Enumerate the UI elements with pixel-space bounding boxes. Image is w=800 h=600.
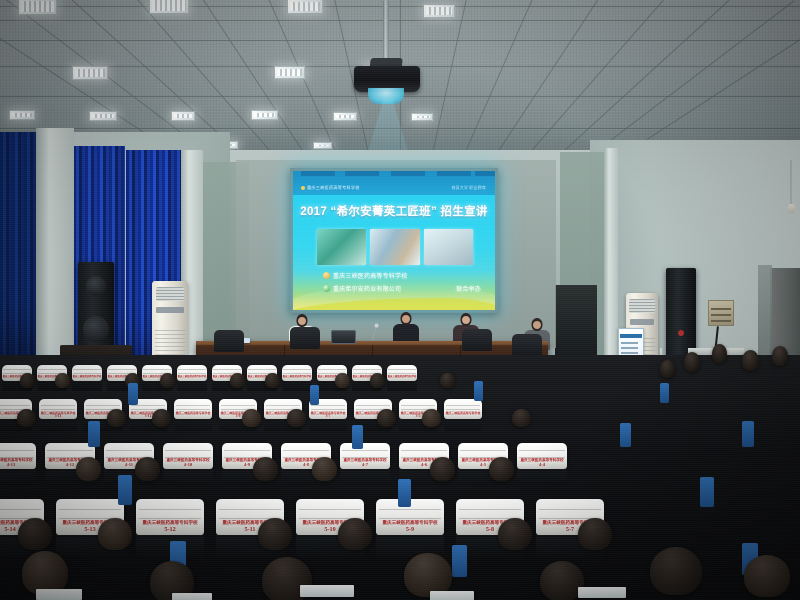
seat-cover: 重庆三峡医药高等专科学校4-13 [0, 443, 36, 469]
seat-cover-fold [47, 450, 93, 451]
standing-attendee-2 [712, 344, 727, 363]
slide-tab-3 [391, 171, 425, 176]
ac-left-label [156, 307, 183, 313]
seat-cover-fold [539, 509, 602, 510]
projector-lens [368, 88, 404, 104]
attendee-head [498, 518, 532, 550]
attendee-head [18, 518, 52, 550]
attendee-head [287, 409, 306, 427]
seat-number: 4-10 [163, 462, 213, 467]
slide-photo-strip [317, 229, 473, 265]
seat-cover: 重庆三峡医药高等专科学校4-7 [340, 443, 390, 469]
seat-cover-fold [401, 405, 436, 406]
seat-side-panel-4 [660, 383, 669, 403]
slide-tab-1 [301, 171, 335, 176]
attendee-head [422, 409, 441, 427]
seat-cover-fold [139, 509, 202, 510]
seat-cover-fold [139, 518, 202, 519]
slide-logo-mark [301, 186, 305, 190]
seat-cover-fold [38, 369, 66, 370]
attendee-head [242, 409, 261, 427]
attendee-notebook-1 [36, 589, 82, 600]
standing-attendee-1 [684, 352, 700, 372]
attendee-head [160, 373, 175, 388]
seat-cover: 重庆三峡医药高等专科学校 [444, 399, 482, 419]
seat-cover-fold [106, 450, 152, 451]
slide-org-label-2: 重庆希尔安药业有限公司 [333, 284, 401, 293]
attendee-head [20, 373, 35, 388]
slide-tab-4 [437, 171, 471, 176]
seat-cover-text: 重庆三峡医药高等专科学校 [387, 374, 417, 378]
attendee-notebook-2 [172, 593, 212, 600]
seat-cover-fold [318, 369, 346, 370]
slide-jointly-label: 联合举办 [456, 284, 481, 293]
seat-cover-fold [178, 369, 206, 370]
ceiling-light-6 [72, 66, 108, 80]
seat-side-panel-5 [88, 421, 100, 447]
attendee-head [377, 409, 396, 427]
seat-cover-fold [379, 509, 442, 510]
seat-side-panel-6 [352, 425, 363, 449]
attendee-head [253, 457, 278, 481]
pillar-left-1 [36, 128, 74, 376]
seat-cover-fold [266, 405, 301, 406]
attendee-head [338, 518, 372, 550]
pillar-right-1 [604, 148, 618, 366]
seat-side-panel-9 [118, 475, 132, 505]
seat-cover-fold [356, 405, 391, 406]
attendee-head [98, 518, 132, 550]
attendee-head [107, 409, 126, 427]
seat-cover-fold [213, 369, 241, 370]
seat-cover-fold [446, 409, 481, 410]
panelist-face [462, 316, 470, 324]
poster-line-2 [621, 347, 638, 349]
foreground-attendee-head [744, 555, 790, 597]
ceiling-light-14 [411, 113, 433, 122]
seat-cover-fold [59, 509, 122, 510]
seat-number: 5-9 [376, 526, 444, 533]
speaker-right-driver [678, 330, 684, 336]
seat-cover-text: 重庆三峡医药高等专科学校 [174, 411, 212, 415]
wall-electrical-box[interactable] [708, 300, 734, 326]
standing-attendee-3 [742, 350, 759, 371]
speaker-left-woofer [83, 316, 109, 342]
ceiling-light-1 [18, 0, 57, 15]
ac-left-grill [156, 287, 185, 301]
ceiling-light-4 [423, 4, 455, 18]
seat-cover-fold [0, 450, 34, 451]
panelist-face [533, 321, 541, 329]
seat-cover-fold [460, 450, 506, 451]
attendee-head [55, 373, 70, 388]
seat-cover-fold [221, 405, 256, 406]
seat-cover-fold [108, 369, 136, 370]
seat-cover-text: 重庆三峡医药高等专科学校 [72, 374, 102, 378]
stage-chair-3[interactable] [462, 329, 492, 351]
audience-seating: 重庆三峡医药高等专科学校重庆三峡医药高等专科学校重庆三峡医药高等专科学校重庆三峡… [0, 355, 800, 600]
seat-cover-text: 重庆三峡医药高等专科学校 [282, 374, 312, 378]
attendee-head [578, 518, 612, 550]
ceiling-light-2 [149, 0, 188, 14]
seat-cover-fold [311, 409, 346, 410]
seat-cover-fold [388, 369, 416, 370]
slide-org-label-1: 重庆三峡医药高等专科学校 [333, 271, 407, 280]
seat-number: 3-7 [309, 414, 347, 418]
attendee-notebook-4 [430, 591, 474, 600]
seat-cover-text: 重庆三峡医药高等专科学校 [444, 411, 482, 415]
slide-org-row-1: 重庆三峡医药高等专科学校 [323, 271, 473, 280]
seat-cover-fold [165, 450, 211, 451]
slide-tab-2 [345, 171, 379, 176]
slide-organizations: 重庆三峡医药高等专科学校 重庆希尔安药业有限公司 [323, 271, 473, 297]
seat-side-panel-3 [474, 381, 483, 401]
factory-photo [424, 229, 473, 265]
seat-cover-fold [299, 509, 362, 510]
seat-cover-fold [342, 450, 388, 451]
attendee-head [370, 373, 385, 388]
company-badge-icon [323, 285, 330, 292]
seat-cover-fold [41, 409, 76, 410]
seat-number: 3-13 [39, 414, 77, 418]
foreground-attendee-head [650, 547, 702, 595]
slide-org-row-2: 重庆希尔安药业有限公司 [323, 284, 473, 293]
panelist-face [402, 315, 410, 323]
standing-attendee-4 [772, 346, 788, 366]
seat-cover: 重庆三峡医药高等专科学校 [387, 365, 417, 381]
curtain-left-1 [0, 132, 36, 364]
seat-cover-fold [0, 509, 41, 510]
wall-box-slot-3 [711, 320, 731, 322]
ceiling-light-10 [89, 111, 117, 121]
seat-cover-fold [3, 369, 31, 370]
school-badge-icon [323, 272, 330, 279]
attendee-head [17, 409, 36, 427]
surgery-photo [317, 229, 366, 265]
poster-title-bar [620, 334, 641, 338]
seat-cover: 重庆三峡医药高等专科学校3-13 [39, 399, 77, 419]
slide-logo-label: 重庆三峡医药高等专科学校 [307, 185, 360, 190]
seat-cover-fold [459, 509, 522, 510]
ceiling-light-13 [333, 112, 357, 121]
seat-side-panel-10 [398, 479, 411, 507]
wall-box-slot-2 [711, 314, 731, 316]
seat-cover-fold [176, 405, 211, 406]
seat-number: 4-13 [0, 462, 36, 467]
seat-cover-fold [219, 509, 282, 510]
seat-cover: 重庆三峡医药高等专科学校5-12 [136, 499, 204, 535]
attendee-head [512, 409, 531, 427]
seat-cover: 重庆三峡医药高等专科学校 [72, 365, 102, 381]
seat-side-panel-13 [452, 545, 467, 577]
seat-cover: 重庆三峡医药高等专科学校4-10 [163, 443, 213, 469]
seat-cover: 重庆三峡医药高等专科学校 [174, 399, 212, 419]
attendee-notebook-5 [578, 587, 626, 598]
stage-chair-1[interactable] [214, 330, 244, 352]
projector-pole [383, 0, 389, 64]
attendee-head [312, 457, 337, 481]
seat-side-panel-8 [742, 421, 754, 447]
seat-cover-fold [176, 409, 211, 410]
seat-cover: 重庆三峡医药高等专科学校 [177, 365, 207, 381]
pharmacy-lab-photo [370, 229, 419, 265]
attendee-head [430, 457, 455, 481]
seat-cover-fold [401, 450, 447, 451]
speaker-left-driver [86, 276, 106, 296]
attendee-head [258, 518, 292, 550]
seat-cover-fold [283, 369, 311, 370]
attendee-head [135, 457, 160, 481]
seat-cover-text: 重庆三峡医药高等专科学校 [177, 374, 207, 378]
wall-box-slot-1 [711, 308, 731, 310]
laptop[interactable] [330, 330, 357, 346]
attendee-head [489, 457, 514, 481]
attendee-notebook-3 [300, 585, 354, 597]
lecture-hall-photo: 重庆三峡医药高等专科学校 修身大学 职业教育 2017 “希尔安菁英工匠班” 招… [0, 0, 800, 600]
attendee-head [335, 373, 350, 388]
seat-cover-fold [379, 518, 442, 519]
seat-cover-fold [446, 405, 481, 406]
attendee-head [265, 373, 280, 388]
seat-side-panel-11 [700, 477, 714, 507]
poster-line-3 [621, 352, 638, 354]
seat-cover-fold [353, 369, 381, 370]
seat-cover-fold [519, 450, 565, 451]
attendee-head [440, 373, 455, 388]
ceiling-light-7 [274, 66, 305, 79]
standing-attendee-5 [660, 360, 675, 378]
stage-chair-4[interactable] [512, 334, 542, 356]
ceiling-hanger [790, 160, 792, 206]
ceiling-light-3 [287, 0, 324, 14]
seat-cover-fold [248, 369, 276, 370]
attendee-head [152, 409, 171, 427]
slide-tab-5 [475, 171, 495, 176]
ceiling-light-9 [9, 110, 35, 120]
stage-chair-2[interactable] [290, 327, 320, 349]
ceiling-light-18 [313, 142, 332, 149]
slide-logo-text: 重庆三峡医药高等专科学校 [301, 185, 360, 191]
ceiling-light-12 [251, 110, 278, 120]
poster-line-1 [621, 342, 638, 344]
seat-cover-fold [311, 405, 346, 406]
seat-cover-fold [131, 405, 166, 406]
seat-number: 4-7 [340, 462, 390, 467]
projection-screen: 重庆三峡医药高等专科学校 修身大学 职业教育 2017 “希尔安菁英工匠班” 招… [293, 171, 495, 310]
seat-cover-fold [283, 450, 329, 451]
seat-cover-fold [0, 405, 30, 406]
seat-side-panel-2 [310, 385, 319, 405]
slide-corner-text: 修身大学 职业教育 [451, 185, 486, 191]
attendee-head [230, 373, 245, 388]
slide-header-band [293, 171, 495, 195]
seat-side-panel-7 [620, 423, 631, 447]
seat-cover: 重庆三峡医药高等专科学校4-4 [517, 443, 567, 469]
seat-number: 4-4 [517, 462, 567, 467]
slide-title: 2017 “希尔安菁英工匠班” 招生宣讲 [293, 203, 495, 219]
ac-right-grill [629, 299, 655, 313]
seat-side-panel-1 [128, 383, 138, 405]
ceiling-grid-line-h-5 [0, 128, 800, 129]
ceiling-light-11 [171, 111, 195, 120]
seat-cover-fold [86, 405, 121, 406]
seat-cover-fold [143, 369, 171, 370]
ceiling-projector [352, 0, 422, 110]
panelist-face [298, 317, 306, 325]
attendee-head [76, 457, 101, 481]
seat-cover-fold [73, 369, 101, 370]
laptop-screen [331, 330, 356, 344]
ac-right-label [630, 319, 654, 325]
seat-number: 5-12 [136, 526, 204, 533]
seat-cover: 重庆三峡医药高等专科学校 [282, 365, 312, 381]
seat-cover-fold [224, 450, 270, 451]
seat-cover-fold [41, 405, 76, 406]
